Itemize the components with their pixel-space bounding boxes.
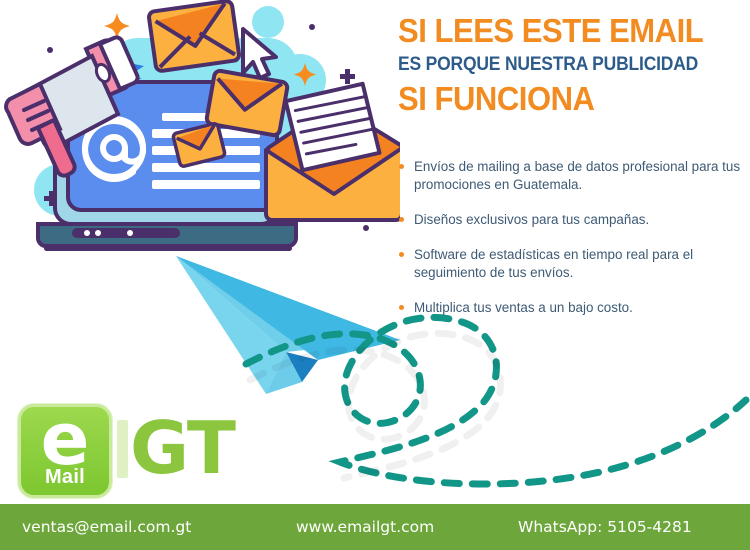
list-item-label: Envíos de mailing a base de datos profes… — [414, 159, 740, 192]
bullet-dot-icon — [399, 305, 404, 310]
document-icon — [285, 83, 381, 171]
headline-line-1: SI LEES ESTE EMAIL — [398, 14, 722, 48]
bullet-dot-icon — [399, 217, 404, 222]
bullet-dot-icon — [399, 252, 404, 257]
logo-badge: e Mail — [18, 404, 112, 498]
headline-line-3: SI FUNCIONA — [398, 82, 722, 116]
list-item-label: Diseños exclusivos para tus campañas. — [414, 212, 649, 227]
list-item: Envíos de mailing a base de datos profes… — [398, 158, 750, 194]
poster-canvas: SI LEES ESTE EMAIL ES PORQUE NUESTRA PUB… — [0, 0, 750, 550]
contact-footer-bar: ventas@email.com.gt www.emailgt.com What… — [0, 504, 750, 550]
headline-line-2: ES PORQUE NUESTRA PUBLICIDAD — [398, 55, 715, 75]
headline-block: SI LEES ESTE EMAIL ES PORQUE NUESTRA PUB… — [398, 14, 743, 115]
benefits-list: Envíos de mailing a base de datos profes… — [398, 158, 750, 317]
list-item: Multiplica tus ventas a un bajo costo. — [398, 299, 750, 317]
list-item-label: Software de estadísticas en tiempo real … — [414, 247, 693, 280]
list-item-label: Multiplica tus ventas a un bajo costo. — [414, 300, 633, 315]
document-envelope-group — [266, 83, 400, 220]
list-item: Diseños exclusivos para tus campañas. — [398, 211, 750, 229]
logo-word-mail: Mail — [21, 466, 109, 489]
email-marketing-illustration — [0, 0, 400, 270]
envelope-icon-top — [148, 0, 240, 71]
list-item: Software de estadísticas en tiempo real … — [398, 246, 750, 282]
emailgt-logo: e Mail GT — [18, 400, 238, 500]
logo-suffix-gt: GT — [130, 412, 235, 484]
footer-email[interactable]: ventas@email.com.gt — [22, 504, 191, 550]
bullet-dot-icon — [399, 164, 404, 169]
logo-divider-bar — [117, 420, 128, 478]
footer-website[interactable]: www.emailgt.com — [296, 504, 434, 550]
logo-letter-e: e — [21, 403, 109, 475]
footer-whatsapp[interactable]: WhatsApp: 5105-4281 — [518, 504, 692, 550]
